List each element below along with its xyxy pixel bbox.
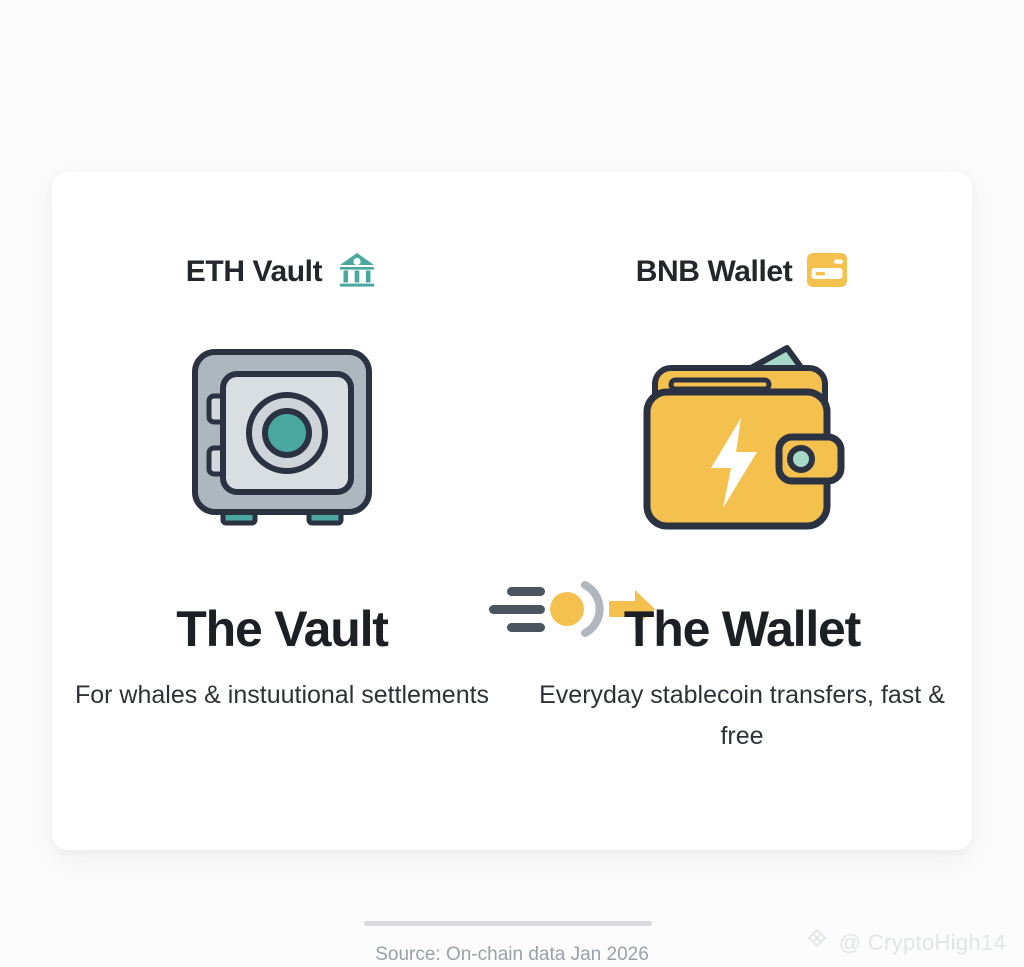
- column-subtitle-wallet: Everyday stablecoin transfers, fast & fr…: [522, 675, 962, 756]
- column-title-wallet: The Wallet: [522, 602, 962, 657]
- illustration-vault: [52, 340, 512, 545]
- comparison-card: ETH Vault BNB Wallet: [52, 172, 972, 850]
- column-header-label-wallet: BNB Wallet: [636, 255, 793, 289]
- column-header-label-vault: ETH Vault: [186, 255, 322, 289]
- safe-icon: [187, 340, 377, 545]
- column-header-wallet: BNB Wallet: [512, 248, 972, 296]
- column-subtitle-vault: For whales & instuutional settlements: [62, 675, 502, 716]
- card-icon: [806, 251, 848, 294]
- column-body-wallet: The Wallet Everyday stablecoin transfers…: [522, 602, 962, 756]
- column-body-vault: The Vault For whales & instuutional sett…: [62, 602, 502, 716]
- wallet-icon: [637, 340, 847, 545]
- watermark-text: @ CryptoHigh14: [839, 930, 1006, 956]
- diamond-logo-icon: [804, 927, 830, 959]
- column-title-vault: The Vault: [62, 602, 502, 657]
- bank-icon: [336, 249, 378, 296]
- footer-divider: [364, 921, 652, 926]
- watermark: @ CryptoHigh14: [804, 927, 1006, 959]
- column-header-vault: ETH Vault: [52, 248, 512, 296]
- illustration-wallet: [512, 340, 972, 545]
